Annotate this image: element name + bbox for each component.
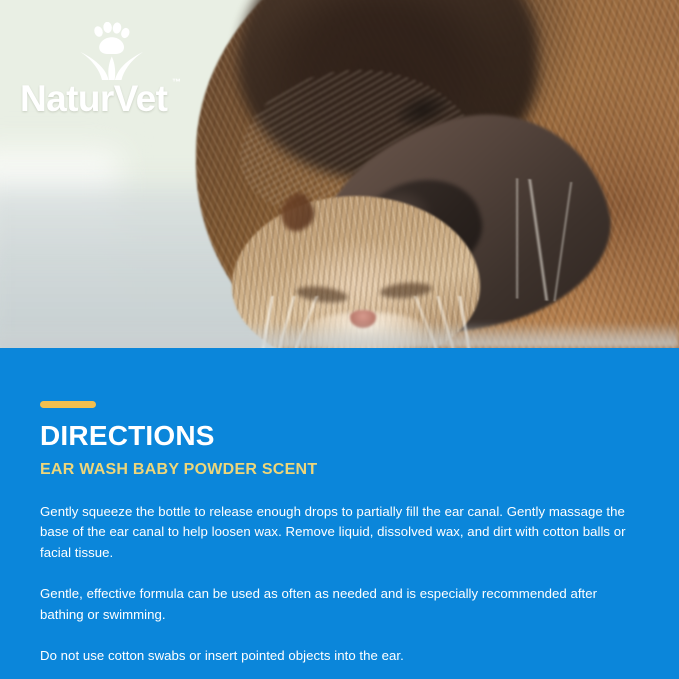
photo-bottom-haze bbox=[0, 322, 679, 348]
accent-rule bbox=[40, 401, 96, 408]
directions-paragraph: Gently squeeze the bottle to release eno… bbox=[40, 502, 640, 564]
directions-panel: DIRECTIONS EAR WASH BABY POWDER SCENT Ge… bbox=[0, 348, 679, 679]
directions-content: DIRECTIONS EAR WASH BABY POWDER SCENT Ge… bbox=[40, 401, 640, 667]
trademark-symbol: ™ bbox=[172, 78, 181, 87]
directions-paragraph: Gentle, effective formula can be used as… bbox=[40, 584, 640, 625]
directions-paragraph: Do not use cotton swabs or insert pointe… bbox=[40, 646, 640, 667]
brand-logo: NaturVet ™ bbox=[20, 22, 200, 114]
product-subtitle: EAR WASH BABY POWDER SCENT bbox=[40, 461, 640, 479]
page-title: DIRECTIONS bbox=[40, 422, 640, 450]
brand-wordmark: NaturVet bbox=[20, 80, 167, 117]
directions-body: Gently squeeze the bottle to release eno… bbox=[40, 502, 640, 667]
product-directions-page: NaturVet ™ DIRECTIONS EAR WASH BABY POWD… bbox=[0, 0, 679, 679]
